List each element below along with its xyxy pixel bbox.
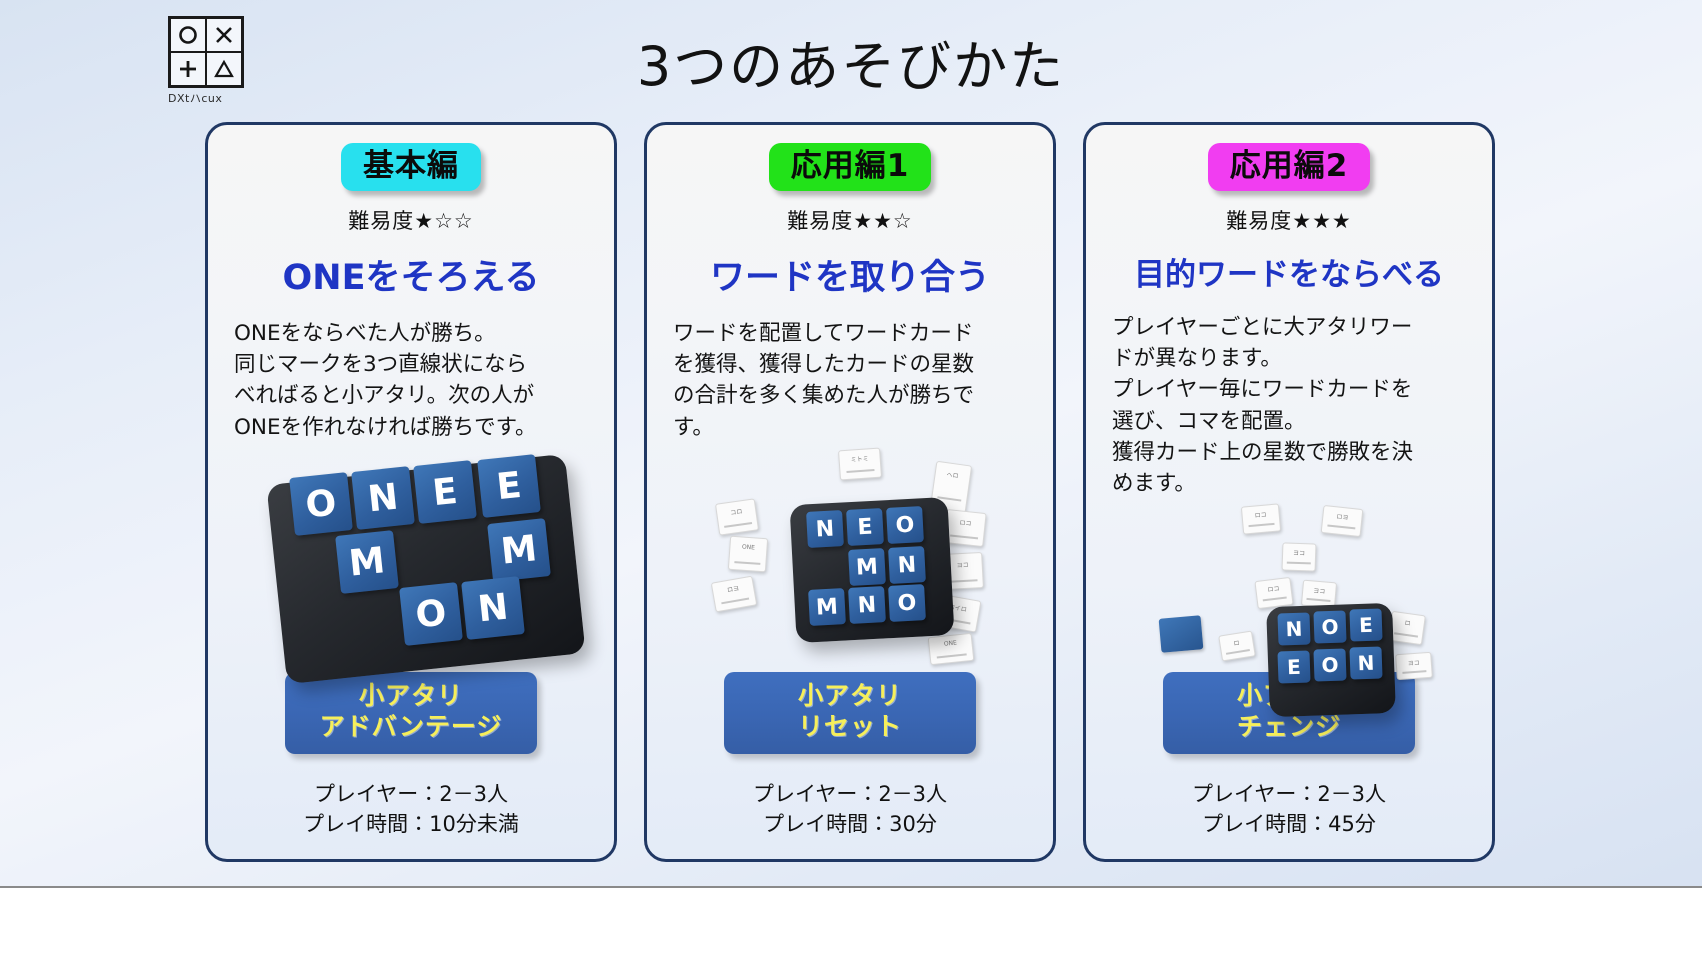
board-tile: E <box>1277 651 1310 684</box>
card-body: プレイヤーごとに大アタリワー ドが異なります。 プレイヤー毎にワードカードを 選… <box>1106 312 1472 499</box>
difficulty-text: 難易度 <box>787 209 853 233</box>
special-rule-line2: リセット <box>724 712 976 743</box>
play-time: プレイ時間：30分 <box>753 810 947 839</box>
special-rule-line2: アドバンテージ <box>285 712 537 743</box>
word-card: ミトミ <box>838 447 882 480</box>
difficulty-label: 難易度★☆☆ <box>348 205 473 235</box>
board-tile: N <box>351 466 415 530</box>
mode-badge: 基本編 <box>341 143 481 191</box>
difficulty-stars: ★☆☆ <box>414 209 473 233</box>
board-tile: E <box>413 460 477 524</box>
mode-photo-basic: O N E E M M N O <box>228 449 594 672</box>
special-rule-button[interactable]: 小アタリ リセット <box>724 672 976 754</box>
players-count: プレイヤー：2－3人 <box>1192 780 1386 809</box>
word-card: ヨコ <box>1282 543 1317 572</box>
slide-bottom-strip <box>0 886 1702 958</box>
word-card: ロヨ <box>1321 505 1364 537</box>
board-tile: M <box>808 588 846 626</box>
players-count: プレイヤー：2－3人 <box>303 780 519 809</box>
board-tile: E <box>1349 609 1382 642</box>
difficulty-text: 難易度 <box>1226 209 1292 233</box>
card-footer: プレイヤー：2－3人 プレイ時間：30分 <box>753 780 947 839</box>
word-card: ロコ <box>1254 577 1293 609</box>
board-tile: M <box>487 518 551 582</box>
board-tile: O <box>1313 611 1346 644</box>
card-heading: ワードを取り合う <box>710 249 990 300</box>
mode-badge: 応用編1 <box>769 143 932 191</box>
special-rule-button[interactable]: 小アタリ アドバンテージ <box>285 672 537 754</box>
word-card: ロ <box>1388 611 1426 645</box>
board-tile: E <box>477 454 541 518</box>
card-row: 基本編 難易度★☆☆ ONEをそろえる ONEをならべた人が勝ち。 同じマークを… <box>205 122 1495 862</box>
mode-card-advanced-1[interactable]: 応用編1 難易度★★☆ ワードを取り合う ワードを配置してワードカード を獲得、… <box>644 122 1056 862</box>
mode-badge: 応用編2 <box>1208 143 1371 191</box>
word-card: ロコ <box>1241 504 1281 535</box>
play-time: プレイ時間：45分 <box>1192 810 1386 839</box>
card-body: ワードを配置してワードカード を獲得、獲得したカードの星数 の合計を多く集めた人… <box>667 318 1033 443</box>
board-tile: E <box>846 508 884 546</box>
card-heading: 目的ワードをならべる <box>1134 249 1444 294</box>
mode-photo-advanced-2: ロコ ロヨ ヨコ ロコ ヨコ ロ ロ ヨコ N O E E O N <box>1106 505 1472 672</box>
board-tile: N <box>1349 647 1382 680</box>
board-tile: M <box>335 530 399 594</box>
card-heading: ONEをそろえる <box>283 249 540 300</box>
difficulty-label: 難易度★★☆ <box>787 205 912 235</box>
word-card: ONE <box>928 633 975 665</box>
word-card: ヨコ <box>1395 652 1433 680</box>
board-tile: N <box>1277 613 1310 646</box>
board-tile: O <box>399 582 463 646</box>
card-body: ONEをならべた人が勝ち。 同じマークを3つ直線状になら べればると小アタリ。次… <box>228 318 594 443</box>
board-tile: N <box>461 576 525 640</box>
special-rule-line1: 小アタリ <box>724 681 976 712</box>
word-card: ロコ <box>943 509 986 547</box>
page-title: 3つのあそびかた <box>0 22 1702 101</box>
board-tile: N <box>806 510 844 548</box>
board-tile: O <box>888 584 926 622</box>
board-tile: N <box>848 586 886 624</box>
special-rule-line1: 小アタリ <box>285 681 537 712</box>
play-time: プレイ時間：10分未満 <box>303 810 519 839</box>
mode-card-advanced-2[interactable]: 応用編2 難易度★★★ 目的ワードをならべる プレイヤーごとに大アタリワー ドが… <box>1083 122 1495 862</box>
board-tile: N <box>888 546 926 584</box>
players-count: プレイヤー：2－3人 <box>753 780 947 809</box>
difficulty-text: 難易度 <box>348 209 414 233</box>
word-card: ロ <box>1218 631 1256 662</box>
word-card: ONE <box>728 535 768 572</box>
mode-card-basic[interactable]: 基本編 難易度★☆☆ ONEをそろえる ONEをならべた人が勝ち。 同じマークを… <box>205 122 617 862</box>
board-tile: O <box>1313 649 1346 682</box>
blue-word-card <box>1159 615 1204 653</box>
difficulty-stars: ★★★ <box>1292 209 1351 233</box>
board-tile: O <box>886 506 924 544</box>
difficulty-stars: ★★☆ <box>853 209 912 233</box>
word-card: コロ <box>715 498 759 535</box>
difficulty-label: 難易度★★★ <box>1226 205 1351 235</box>
mode-photo-advanced-1: ミトミ ヘロ コロ ONE ロヨ ロコ ヨコ ロイロ ONE N E O M N… <box>667 449 1033 672</box>
slide-canvas: DXtハcuх 3つのあそびかた 基本編 難易度★☆☆ ONEをそろえる ONE… <box>0 0 1702 958</box>
word-card: ロヨ <box>711 575 758 612</box>
board-tile: M <box>848 548 886 586</box>
card-footer: プレイヤー：2－3人 プレイ時間：45分 <box>1192 780 1386 839</box>
board-tile: O <box>289 472 353 536</box>
card-footer: プレイヤー：2－3人 プレイ時間：10分未満 <box>303 780 519 839</box>
